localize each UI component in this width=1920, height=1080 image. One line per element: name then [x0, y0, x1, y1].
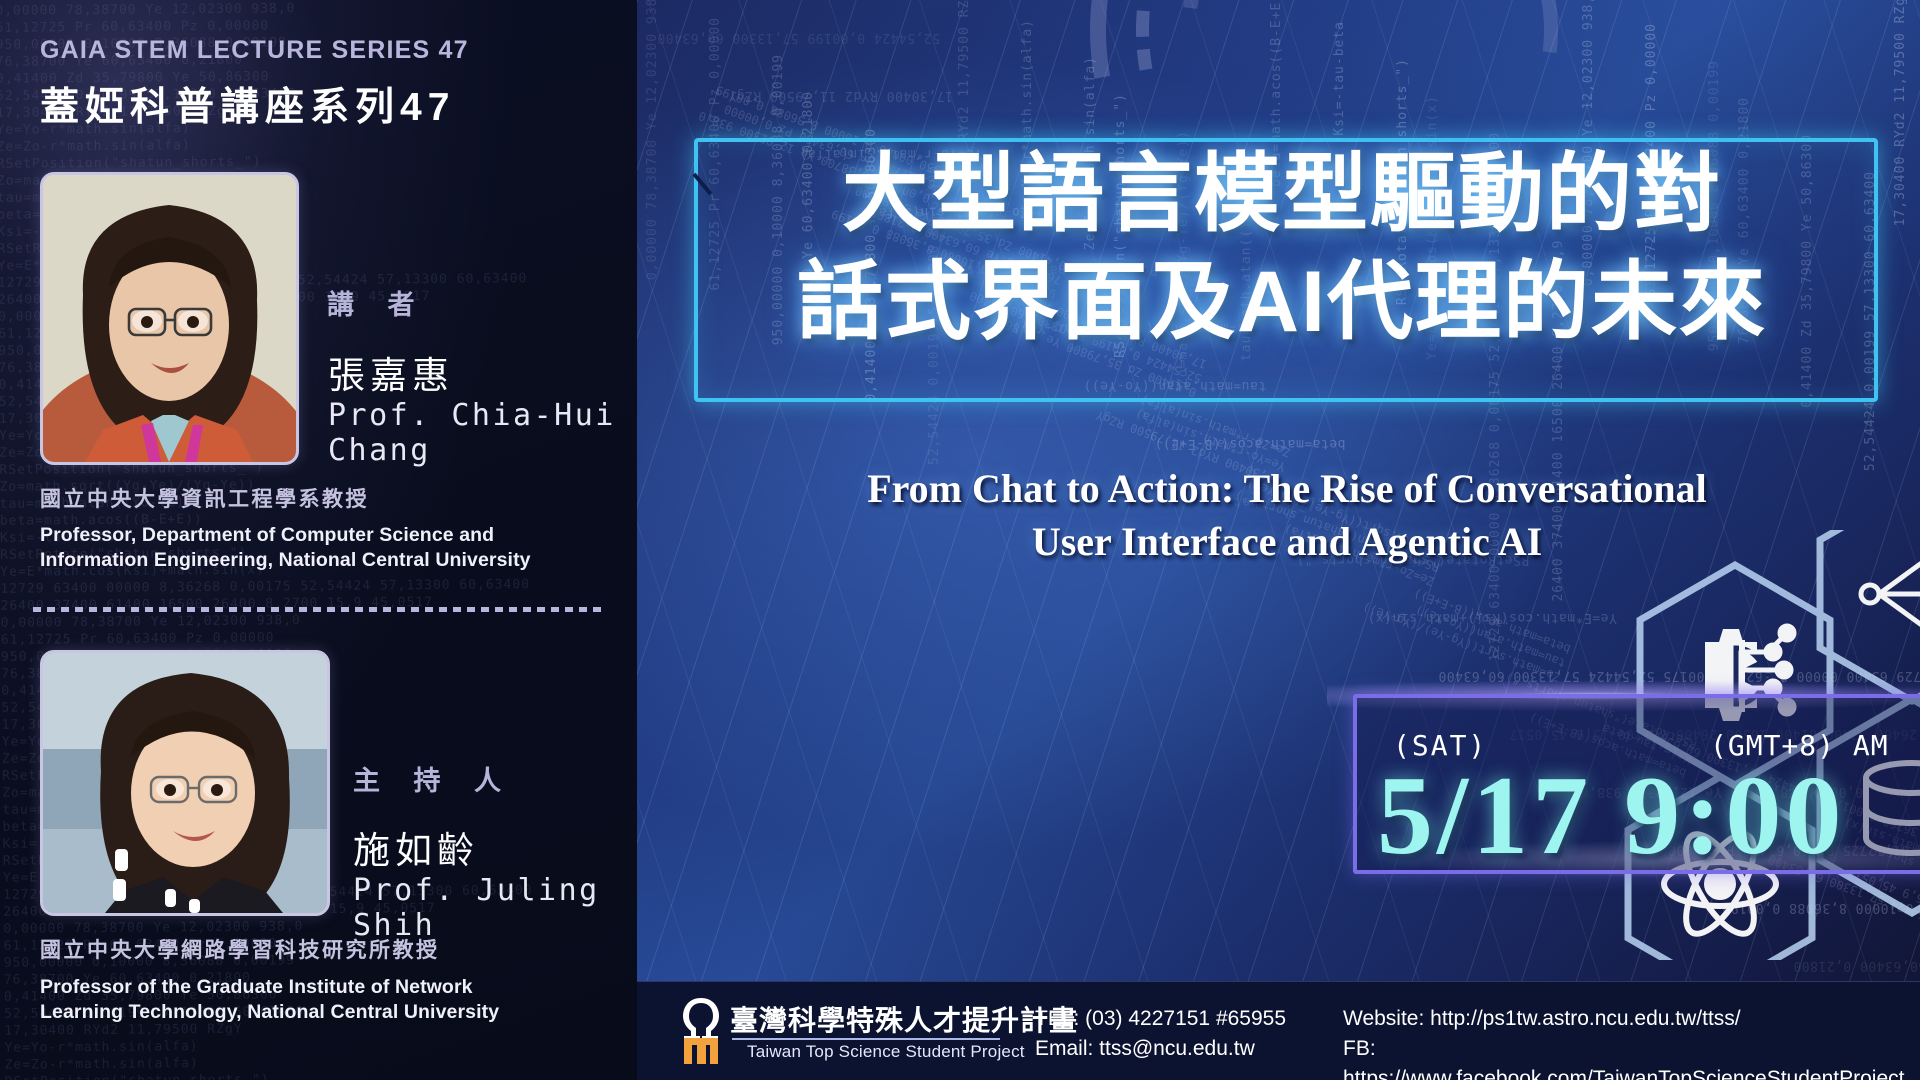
main-visual-panel: 0,00000 78,38700 Ye 12,02300 938,061,127… [637, 0, 1920, 1080]
lecture-title-en: From Chat to Action: The Rise of Convers… [692, 462, 1882, 568]
footer-tel: TEL: (03) 4227151 #65955 [1035, 1004, 1286, 1034]
event-date-time: 5/17 9:00 [1377, 752, 1845, 881]
taiwan-top-science-logo-icon [680, 996, 722, 1066]
footer-links: Website: http://ps1tw.astro.ncu.edu.tw/t… [1343, 1004, 1920, 1080]
lecture-title-zh-line1: 大型語言模型驅動的對 [687, 140, 1877, 248]
speaker-divider [33, 607, 603, 612]
footer-contact: TEL: (03) 4227151 #65955 Email: ttss@ncu… [1035, 1004, 1286, 1064]
lecture-title-en-line2: User Interface and Agentic AI [692, 515, 1882, 568]
footer-facebook[interactable]: FB: https://www.facebook.com/TaiwanTopSc… [1343, 1034, 1920, 1080]
footer-email[interactable]: Email: ttss@ncu.edu.tw [1035, 1034, 1286, 1064]
speaker-name-en-2: Prof. Juling Shih [353, 873, 637, 943]
speaker-photo-chia-hui-chang [40, 172, 299, 465]
speaker-role-label-2: 主 持 人 [353, 759, 514, 798]
speaker-name-en-1: Prof. Chia-Hui Chang [328, 398, 637, 468]
footer-org-name-zh: 臺灣科學特殊人才提升計畫 [730, 999, 1078, 1039]
lecture-title-en-line1: From Chat to Action: The Rise of Convers… [692, 462, 1882, 515]
series-title-en: GAIA STEM LECTURE SERIES 47 [40, 36, 469, 65]
speaker-affiliation-en-line2-1: Information Engineering, National Centra… [40, 548, 531, 573]
speakers-panel: 0,00000 78,38700 Ye 12,02300 938,061,127… [0, 0, 637, 1080]
speaker-affiliation-en-line1-2: Professor of the Graduate Institute of N… [40, 975, 473, 1000]
speaker-affiliation-zh-1: 國立中央大學資訊工程學系教授 [40, 483, 369, 513]
speaker-photo-juling-shih [40, 650, 330, 916]
footer-rule [732, 1038, 1000, 1040]
speaker-role-label-1: 講 者 [327, 283, 428, 322]
series-title-zh: 蓋婭科普講座系列47 [40, 76, 455, 132]
speaker-name-zh-1: 張嘉惠 [328, 345, 454, 399]
speaker-affiliation-en-line1-1: Professor, Department of Computer Scienc… [40, 523, 494, 548]
footer-org-name-en: Taiwan Top Science Student Project [747, 1042, 1025, 1062]
lecture-title-zh-line2: 話式界面及AI代理的未來 [687, 248, 1877, 356]
speaker-name-zh-2: 施如齡 [353, 820, 479, 874]
speaker-affiliation-en-line2-2: Learning Technology, National Central Un… [40, 1000, 499, 1025]
lecture-title-zh: 大型語言模型驅動的對 話式界面及AI代理的未來 [687, 140, 1877, 356]
poster-root: 0,00000 78,38700 Ye 12,02300 938,061,127… [0, 0, 1920, 1080]
footer-website[interactable]: Website: http://ps1tw.astro.ncu.edu.tw/t… [1343, 1004, 1920, 1034]
speaker-affiliation-zh-2: 國立中央大學網路學習科技研究所教授 [40, 934, 440, 964]
footer-bar: 臺灣科學特殊人才提升計畫 Taiwan Top Science Student … [637, 981, 1920, 1080]
